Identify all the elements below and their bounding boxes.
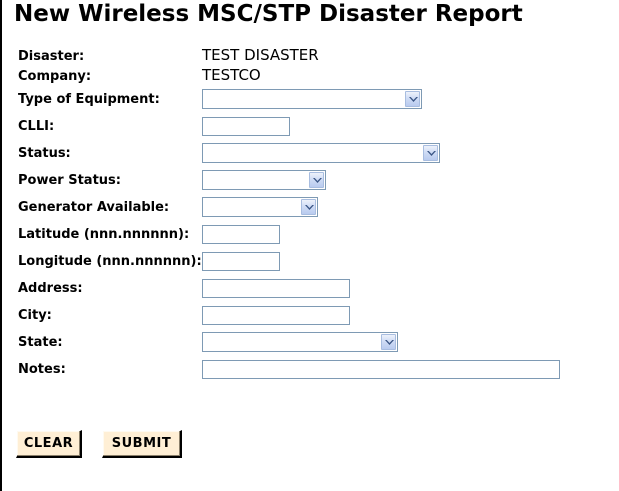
chevron-down-icon[interactable] [301,199,316,215]
clear-button[interactable]: CLEAR [16,430,82,458]
label-type-of-equipment: Type of Equipment: [18,90,160,116]
field-wrapper-longitude-nnn-nnnnnn [202,252,280,271]
label-address: Address: [18,279,83,305]
label-state: State: [18,333,63,359]
label-generator-available: Generator Available: [18,198,169,224]
label-longitude-nnn-nnnnnn: Longitude (nnn.nnnnnn): [18,252,202,278]
label-notes: Notes: [18,360,66,386]
chevron-down-icon[interactable] [309,172,324,188]
form-row-longitude-nnn-nnnnnn: Longitude (nnn.nnnnnn): [2,252,602,278]
form-row-clli: CLLI: [2,117,602,143]
label-clli: CLLI: [18,117,54,143]
label-status: Status: [18,144,71,170]
field-wrapper-company: TESTCO [202,66,261,85]
value-disaster: TEST DISASTER [202,46,319,65]
field-wrapper-generator-available [202,197,318,217]
form-row-generator-available: Generator Available: [2,198,602,224]
input-latitude-nnn-nnnnnn[interactable] [202,225,280,244]
form-row-city: City: [2,306,602,332]
select-power-status[interactable] [202,170,326,190]
form-row-state: State: [2,333,602,359]
submit-button[interactable]: SUBMIT [102,430,182,458]
field-wrapper-type-of-equipment [202,89,422,109]
select-state[interactable] [202,332,398,352]
input-clli[interactable] [202,117,290,136]
field-wrapper-address [202,279,350,298]
form-button-bar: CLEAR SUBMIT [2,430,602,460]
field-wrapper-disaster: TEST DISASTER [202,46,319,65]
input-longitude-nnn-nnnnnn[interactable] [202,252,280,271]
form-row-address: Address: [2,279,602,305]
field-wrapper-clli [202,117,290,136]
form-row-type-of-equipment: Type of Equipment: [2,90,602,116]
field-wrapper-power-status [202,170,326,190]
form-row-notes: Notes: [2,360,602,386]
label-city: City: [18,306,52,332]
page-title: New Wireless MSC/STP Disaster Report [14,1,523,27]
field-wrapper-latitude-nnn-nnnnnn [202,225,280,244]
input-notes[interactable] [202,360,560,379]
field-wrapper-state [202,332,398,352]
field-wrapper-city [202,306,350,325]
chevron-down-icon[interactable] [381,334,396,350]
value-company: TESTCO [202,66,261,85]
label-latitude-nnn-nnnnnn: Latitude (nnn.nnnnnn): [18,225,189,251]
page-root: New Wireless MSC/STP Disaster Report Dis… [0,0,619,491]
form-row-status: Status: [2,144,602,170]
field-wrapper-notes [202,360,560,379]
chevron-down-icon[interactable] [423,145,438,161]
select-status[interactable] [202,143,440,163]
input-address[interactable] [202,279,350,298]
select-generator-available[interactable] [202,197,318,217]
select-type-of-equipment[interactable] [202,89,422,109]
chevron-down-icon[interactable] [405,91,420,107]
form-row-power-status: Power Status: [2,171,602,197]
input-city[interactable] [202,306,350,325]
label-power-status: Power Status: [18,171,121,197]
field-wrapper-status [202,143,440,163]
form-row-latitude-nnn-nnnnnn: Latitude (nnn.nnnnnn): [2,225,602,251]
